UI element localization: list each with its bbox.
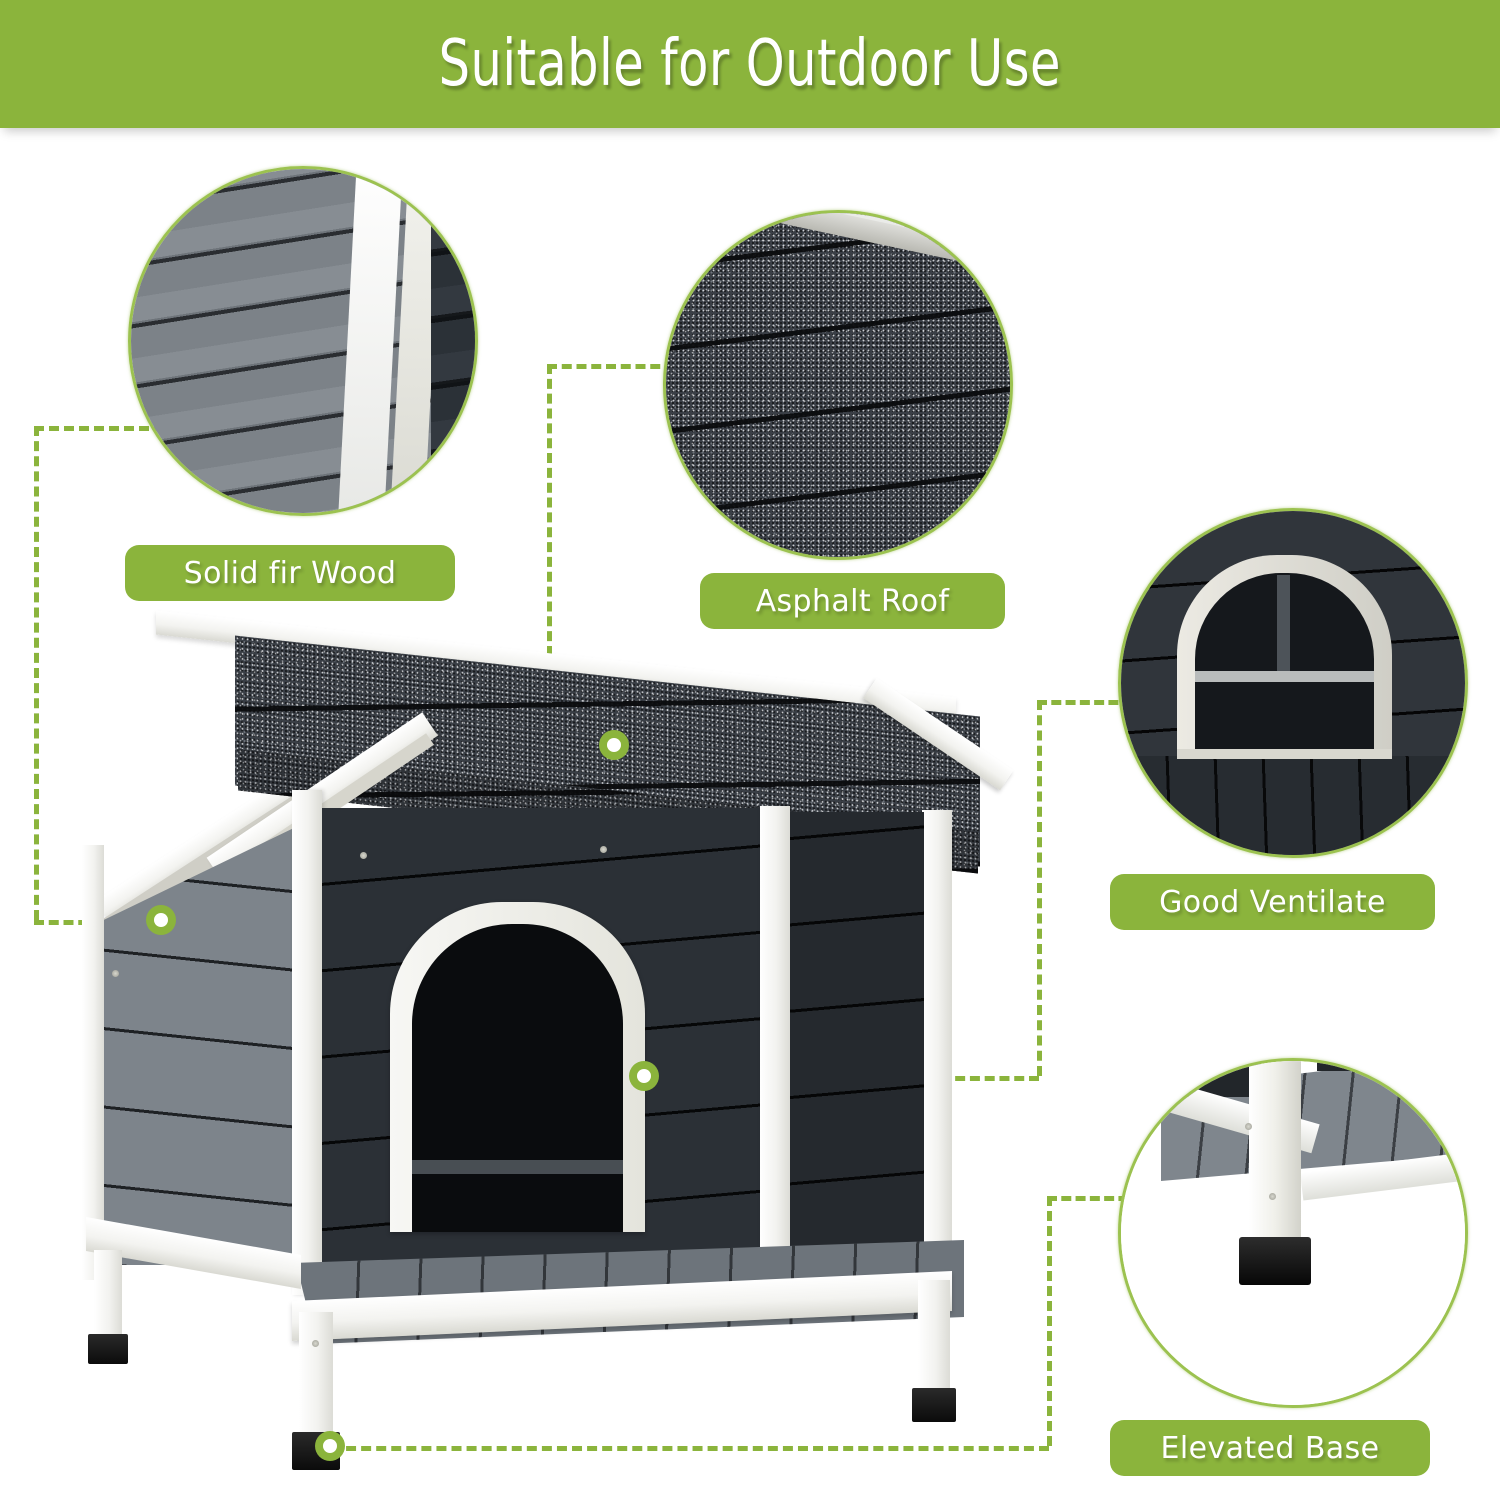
callout-label-text: Asphalt Roof (756, 584, 950, 619)
callout-label-text: Solid fir Wood (184, 556, 397, 591)
callout-circle-elevated-base (1118, 1058, 1468, 1408)
detail-base-foot-cap (1239, 1237, 1311, 1285)
marker-dot-elevated-base (315, 1431, 345, 1461)
callout-circle-asphalt-roof (663, 210, 1013, 560)
leg-front-left-screw (312, 1340, 319, 1347)
leg-back-left (94, 1250, 122, 1342)
callout-label-elevated-base: Elevated Base (1110, 1420, 1430, 1476)
callout-circle-good-ventilate (1118, 508, 1468, 858)
corner-post-left (82, 845, 104, 1280)
detail-dark-wall-edge (431, 169, 475, 513)
connector-solid-fir-wood-vertical (34, 426, 39, 920)
header-banner: Suitable for Outdoor Use (0, 0, 1500, 128)
detail-asphalt-granules (666, 213, 1010, 557)
detail-base-leg-post (1249, 1058, 1301, 1251)
detail-base-rail-screw (1245, 1123, 1252, 1130)
marker-dot-good-ventilate (629, 1061, 659, 1091)
front-wall-screw-b (600, 846, 607, 853)
side-wall-screw (112, 970, 119, 977)
leg-right (918, 1280, 950, 1396)
leg-front-left (299, 1312, 333, 1440)
callout-label-good-ventilate: Good Ventilate (1110, 874, 1435, 930)
callout-label-text: Good Ventilate (1159, 885, 1386, 920)
detail-ventilate-deck (1121, 756, 1465, 855)
detail-doorway-center-divider (1277, 575, 1290, 675)
doorway-interior-ledge (412, 1160, 623, 1174)
detail-doorway-cross-rail (1195, 671, 1374, 682)
callout-label-solid-fir-wood: Solid fir Wood (125, 545, 455, 601)
doorway-opening (412, 924, 623, 1232)
porch-back-wall (790, 812, 924, 1260)
porch-post-middle (760, 806, 790, 1296)
callout-circle-solid-fir-wood (128, 166, 478, 516)
marker-dot-solid-fir-wood (146, 905, 176, 935)
detail-base-leg-screw (1269, 1193, 1276, 1200)
callout-label-asphalt-roof: Asphalt Roof (700, 573, 1005, 629)
callout-label-text: Elevated Base (1161, 1431, 1380, 1466)
detail-base-dark-panel-2 (1317, 1058, 1391, 1071)
page-title: Suitable for Outdoor Use (439, 32, 1061, 96)
foot-cap-back-left (88, 1334, 128, 1364)
corner-post-front-left (292, 790, 322, 1295)
connector-asphalt-roof-top (547, 364, 675, 369)
porch-post-right (922, 810, 952, 1308)
product-image-dog-house (60, 640, 1050, 1470)
foot-cap-right (912, 1388, 956, 1422)
front-wall-screw-a (360, 852, 367, 859)
marker-dot-asphalt-roof (599, 730, 629, 760)
detail-doorway-threshold (1177, 749, 1392, 759)
